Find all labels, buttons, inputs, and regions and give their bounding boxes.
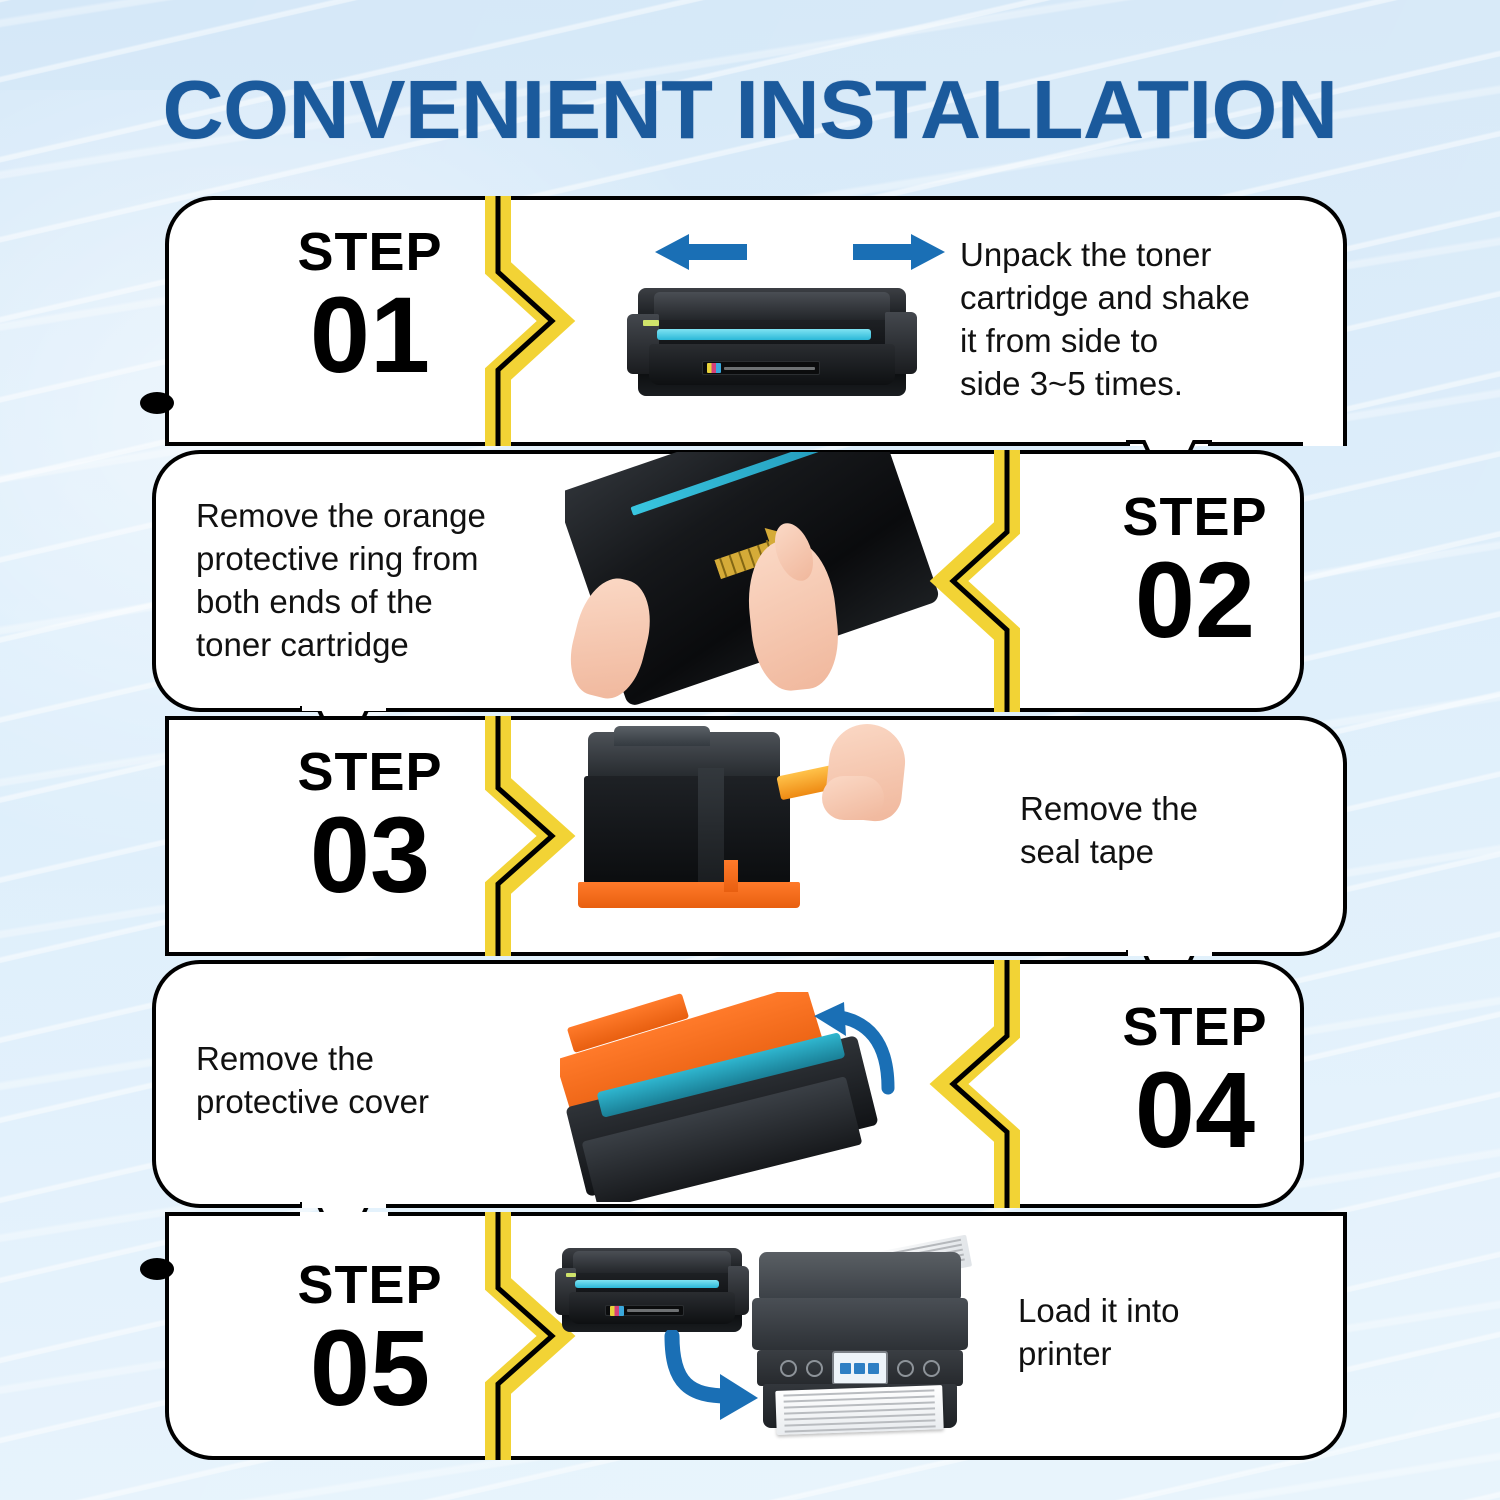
- step-04-divider-chevron: [905, 960, 1035, 1208]
- curved-arrow-up-icon: [810, 1002, 902, 1103]
- toner-cartridge-illustration-2: [562, 1248, 742, 1332]
- step-02-word: STEP: [1050, 490, 1340, 544]
- seal-tape-illustration: [578, 724, 918, 924]
- step-01-caption: Unpack the toner cartridge and shake it …: [960, 234, 1340, 406]
- page-title: CONVENIENT INSTALLATION: [0, 62, 1500, 158]
- step-01-divider-chevron: [470, 196, 600, 446]
- step-04-caption: Remove the protective cover: [196, 1038, 536, 1124]
- step-02-caption: Remove the orange protective ring from b…: [196, 495, 576, 667]
- step-card-2-tail-mask: [302, 706, 386, 711]
- step-card-4-tail-mask: [302, 1202, 386, 1208]
- shake-arrows: [655, 232, 945, 279]
- step-03-caption: Remove the seal tape: [1020, 788, 1350, 874]
- printer-power-button-icon: [780, 1360, 797, 1377]
- arrow-left-icon: [655, 234, 747, 270]
- step-02-divider-chevron: [905, 450, 1035, 712]
- printer-back-button-icon: [897, 1360, 914, 1377]
- step-card-5-left-dot: [140, 1258, 174, 1280]
- step-card-1-left-dot: [140, 392, 174, 414]
- step-04-label: STEP 04: [1050, 1000, 1340, 1164]
- printer-stop-button-icon: [923, 1360, 940, 1377]
- printer-home-button-icon: [806, 1360, 823, 1377]
- printer-illustration: [750, 1240, 970, 1440]
- step-04-word: STEP: [1050, 1000, 1340, 1054]
- step-02-label: STEP 02: [1050, 490, 1340, 654]
- step-card-1-bottom-edge-left: [165, 442, 1130, 446]
- step-card-3-tail-mask: [1128, 950, 1212, 956]
- arrow-right-icon: [853, 234, 945, 270]
- infographic-page: CONVENIENT INSTALLATION STEP 01: [0, 0, 1500, 1500]
- toner-cartridge-illustration-1: [638, 288, 906, 396]
- step-card-1-bottom-edge-right: [1208, 442, 1303, 446]
- step-04-number: 04: [1050, 1056, 1340, 1164]
- step-card-5-top-edge-gap: [300, 1212, 388, 1217]
- printer-display-screen: [832, 1351, 888, 1385]
- step-02-number: 02: [1050, 546, 1340, 654]
- step-05-caption: Load it into printer: [1018, 1290, 1348, 1376]
